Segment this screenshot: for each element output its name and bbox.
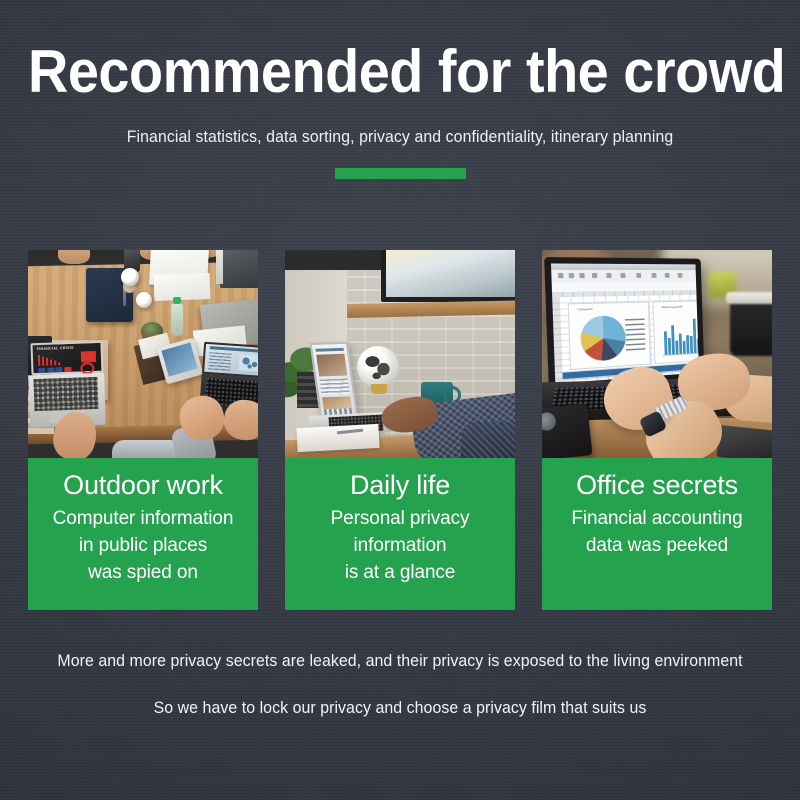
- laptop-screen-financial-crisis: FINANCIAL CRISIS: [30, 341, 103, 375]
- accent-bar: [335, 168, 466, 179]
- caption-daily-life: Daily life Personal privacy information …: [285, 458, 515, 610]
- card-daily-life[interactable]: Daily life Personal privacy information …: [285, 250, 515, 610]
- card-outdoor-work[interactable]: FINANCIAL CRISIS: [28, 250, 258, 610]
- card-body-line: Personal privacy: [285, 505, 515, 532]
- card-body-line: Computer information: [28, 505, 258, 532]
- photo-daily-life: [285, 250, 515, 458]
- card-title: Outdoor work: [28, 470, 258, 502]
- page-title: Recommended for the crowd: [28, 0, 772, 104]
- caption-outdoor-work: Outdoor work Computer information in pub…: [28, 458, 258, 610]
- card-body-line: Financial accounting: [542, 505, 772, 532]
- laptop-screen-label: FINANCIAL CRISIS: [37, 346, 74, 351]
- card-body-line: information: [285, 532, 515, 559]
- page-subtitle: Financial statistics, data sorting, priv…: [16, 104, 784, 147]
- card-row: FINANCIAL CRISIS: [28, 250, 772, 610]
- card-body-line: data was peeked: [542, 532, 772, 559]
- promo-banner: Recommended for the crowd Financial stat…: [0, 0, 800, 800]
- photo-outdoor-work: FINANCIAL CRISIS: [28, 250, 258, 458]
- card-title: Daily life: [285, 470, 515, 502]
- footer-line: More and more privacy secrets are leaked…: [14, 652, 786, 671]
- card-title: Office secrets: [542, 470, 772, 502]
- card-office-secrets[interactable]: Categories Marketing growth: [542, 250, 772, 610]
- caption-office-secrets: Office secrets Financial accounting data…: [542, 458, 772, 610]
- card-body-line: was spied on: [28, 559, 258, 586]
- photo-office-secrets: Categories Marketing growth: [542, 250, 772, 458]
- card-body-line: is at a glance: [285, 559, 515, 586]
- footer: More and more privacy secrets are leaked…: [0, 652, 800, 718]
- footer-line: So we have to lock our privacy and choos…: [14, 699, 786, 718]
- card-body-line: in public places: [28, 532, 258, 559]
- header: Recommended for the crowd Financial stat…: [0, 0, 800, 179]
